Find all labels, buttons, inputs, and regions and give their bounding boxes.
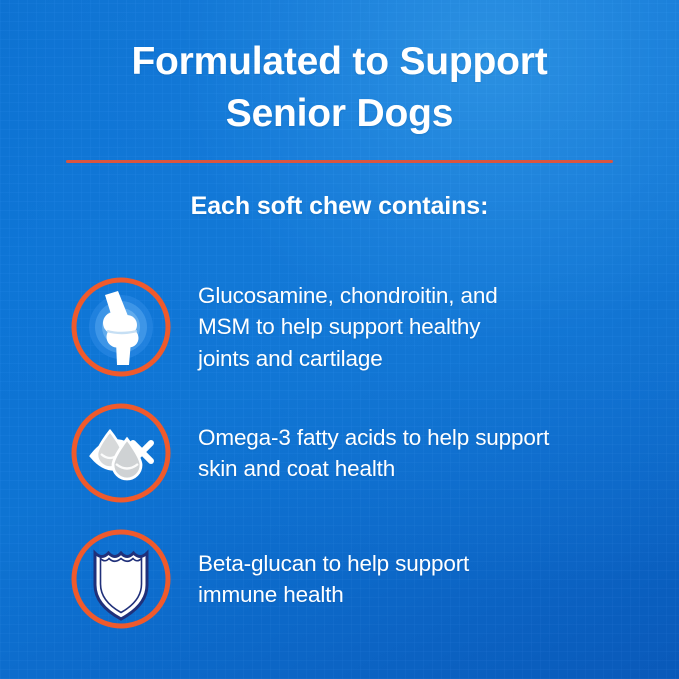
content-layer: Formulated to Support Senior Dogs Each s… [0,0,679,679]
page-title-line-1: Formulated to Support [60,36,619,88]
benefit-text-line-1: Beta-glucan to help support [198,548,469,579]
list-item: Omega-3 fatty acids to help support skin… [0,390,679,516]
shield-glyph [95,553,147,619]
senior-dog-supplement-infographic: Formulated to Support Senior Dogs Each s… [0,0,679,679]
page-title-line-2: Senior Dogs [60,88,619,140]
page-title: Formulated to Support Senior Dogs [0,36,679,140]
list-item: Beta-glucan to help support immune healt… [0,516,679,642]
list-item: Glucosamine, chondroitin, and MSM to hel… [0,264,679,390]
benefit-icon-wrap [62,527,180,631]
shield-icon [69,527,173,631]
fish-oil-droplet-icon [69,401,173,505]
benefit-text-line-1: Glucosamine, chondroitin, and [198,280,498,311]
benefit-text-line-1: Omega-3 fatty acids to help support [198,422,549,453]
joint-bone-icon [69,275,173,379]
benefit-text-line-2: skin and coat health [198,453,549,484]
benefit-text: Glucosamine, chondroitin, and MSM to hel… [198,280,498,373]
benefit-text-line-2: MSM to help support healthy [198,311,498,342]
benefit-text-line-2: immune health [198,579,469,610]
benefit-list: Glucosamine, chondroitin, and MSM to hel… [0,264,679,642]
subtitle: Each soft chew contains: [0,192,679,221]
benefit-icon-wrap [62,401,180,505]
benefit-text: Omega-3 fatty acids to help support skin… [198,422,549,484]
divider [66,160,613,163]
benefit-text: Beta-glucan to help support immune healt… [198,548,469,610]
benefit-icon-wrap [62,275,180,379]
benefit-text-line-3: joints and cartilage [198,343,498,374]
